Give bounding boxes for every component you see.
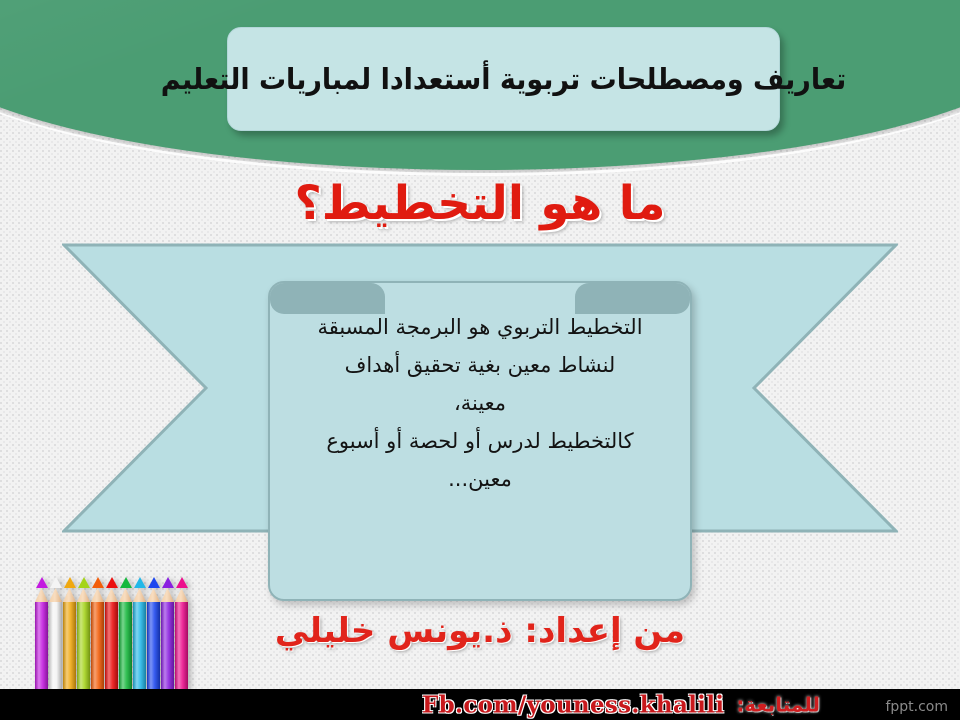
pencil-cyan	[133, 577, 146, 689]
facebook-link[interactable]: Fb.com/youness.khalili	[422, 691, 724, 718]
pencil-lime	[77, 577, 90, 689]
pencil-tip	[50, 577, 62, 588]
pencil-body	[133, 602, 146, 689]
pencil-body	[161, 602, 174, 689]
pencil-wood	[175, 588, 188, 602]
pencil-wood	[63, 588, 76, 602]
pencil-body	[91, 602, 104, 689]
pencil-green	[119, 577, 132, 689]
pencil-tip	[36, 577, 48, 588]
pencil-tip	[176, 577, 188, 588]
pencil-wood	[133, 588, 146, 602]
pencil-body	[35, 602, 48, 689]
pencil-wood	[147, 588, 160, 602]
pencil-tip	[78, 577, 90, 588]
footer-bar: للمتابعة: Fb.com/youness.khalili fppt.co…	[0, 689, 960, 720]
pencil-body	[77, 602, 90, 689]
pencil-white	[49, 577, 62, 689]
colored-pencils-image	[18, 559, 188, 689]
pencil-body	[49, 602, 62, 689]
pencil-tip	[64, 577, 76, 588]
pencil-wood	[77, 588, 90, 602]
pencil-tip	[162, 577, 174, 588]
definition-box: التخطيط التربوي هو البرمجة المسبقة لنشاط…	[268, 281, 692, 601]
pencil-orange	[91, 577, 104, 689]
pencil-wood	[91, 588, 104, 602]
pencil-body	[147, 602, 160, 689]
definition-text: التخطيط التربوي هو البرمجة المسبقة لنشاط…	[270, 317, 690, 507]
pencil-blue	[147, 577, 160, 689]
pencil-tip	[148, 577, 160, 588]
pencil-magenta	[175, 577, 188, 689]
cap-segment-left	[575, 283, 690, 314]
follow-label: للمتابعة:	[736, 693, 820, 717]
pencil-wood	[161, 588, 174, 602]
definition-line: معين...	[284, 469, 676, 490]
cap-segment-right	[270, 283, 385, 314]
header-title-text: تعاريف ومصطلحات تربوية أستعدادا لمباريات…	[161, 61, 847, 97]
pencil-tip	[106, 577, 118, 588]
definition-box-cap	[270, 283, 690, 314]
pencil-wood	[35, 588, 48, 602]
pencil-body	[119, 602, 132, 689]
page-title: ما هو التخطيط؟	[0, 176, 960, 231]
pencil-tip	[92, 577, 104, 588]
pencil-wood	[105, 588, 118, 602]
definition-line: كالتخطيط لدرس أو لحصة أو أسبوع	[284, 431, 676, 452]
pencil-amber	[63, 577, 76, 689]
fppt-watermark: fppt.com	[885, 699, 948, 715]
pencil-body	[175, 602, 188, 689]
definition-line: معينة،	[284, 393, 676, 414]
pencil-tip	[120, 577, 132, 588]
follow-group: للمتابعة: Fb.com/youness.khalili	[422, 691, 820, 718]
pencil-body	[63, 602, 76, 689]
pencil-violet	[35, 577, 48, 689]
pencil-red	[105, 577, 118, 689]
cap-gap	[385, 283, 575, 314]
pencil-wood	[119, 588, 132, 602]
slide-canvas: تعاريف ومصطلحات تربوية أستعدادا لمباريات…	[0, 0, 960, 720]
title-banner: تعاريف ومصطلحات تربوية أستعدادا لمباريات…	[227, 27, 780, 131]
pencil-wood	[49, 588, 62, 602]
pencil-purple	[161, 577, 174, 689]
pencil-body	[105, 602, 118, 689]
definition-line: التخطيط التربوي هو البرمجة المسبقة	[284, 317, 676, 338]
pencil-tip	[134, 577, 146, 588]
definition-line: لنشاط معين بغية تحقيق أهداف	[284, 355, 676, 376]
